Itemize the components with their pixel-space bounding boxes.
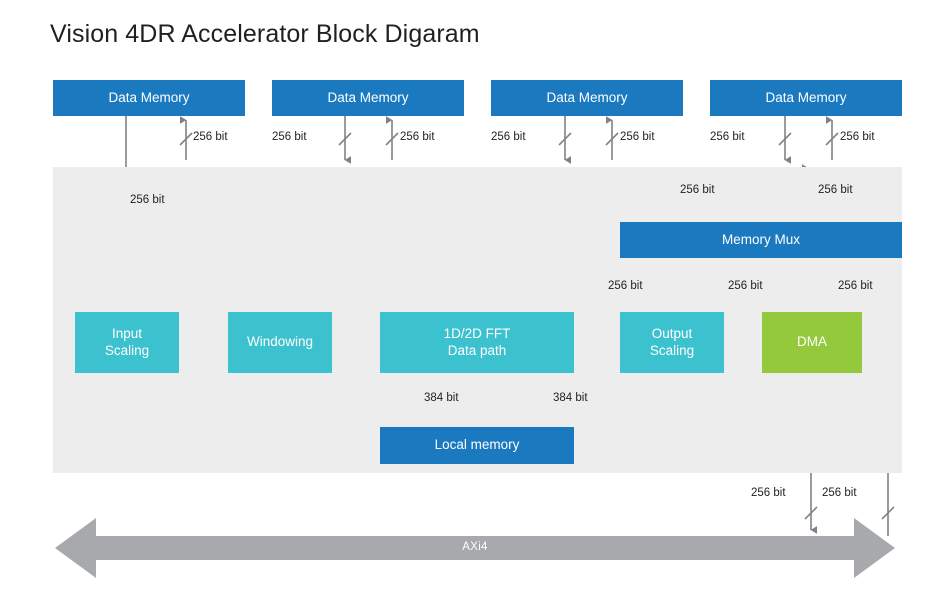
block-label: Data Memory [108, 90, 189, 107]
block-label: Data Memory [546, 90, 627, 107]
bus-label-dm3-up: 256 bit [620, 131, 655, 143]
bus-label-fft-local-in: 384 bit [424, 392, 459, 404]
bus-label-dm3-down: 256 bit [491, 131, 526, 143]
block-label: Output Scaling [650, 326, 694, 360]
block-data-memory-4[interactable]: Data Memory [710, 80, 902, 116]
bus-label-dm2-down: 256 bit [272, 131, 307, 143]
bus-label-dma-down: 256 bit [838, 280, 873, 292]
bus-label-mux-out-up: 256 bit [818, 184, 853, 196]
block-label: Data Memory [765, 90, 846, 107]
axi4-bus-label: AXi4 [0, 541, 950, 553]
block-fft-datapath[interactable]: 1D/2D FFT Data path [380, 312, 574, 373]
bus-label-dm4-up: 256 bit [840, 131, 875, 143]
block-dma[interactable]: DMA [762, 312, 862, 373]
bus-label-dm1-up: 256 bit [193, 131, 228, 143]
bus-label-dm4-down: 256 bit [710, 131, 745, 143]
block-label: Windowing [247, 334, 313, 351]
bus-label-dm2-up: 256 bit [400, 131, 435, 143]
block-input-scaling[interactable]: Input Scaling [75, 312, 179, 373]
block-label: DMA [797, 334, 827, 351]
block-label: Input Scaling [105, 326, 149, 360]
bus-label-mux-in-down: 256 bit [680, 184, 715, 196]
block-output-scaling[interactable]: Output Scaling [620, 312, 724, 373]
block-data-memory-1[interactable]: Data Memory [53, 80, 245, 116]
bus-label-dma-up: 256 bit [728, 280, 763, 292]
block-data-memory-3[interactable]: Data Memory [491, 80, 683, 116]
block-label: Data Memory [327, 90, 408, 107]
block-windowing[interactable]: Windowing [228, 312, 332, 373]
bus-label-fft-local-out: 384 bit [553, 392, 588, 404]
block-data-memory-2[interactable]: Data Memory [272, 80, 464, 116]
bus-label-axi-dma-down: 256 bit [751, 487, 786, 499]
diagram-canvas: Vision 4DR Accelerator Block Digaram [0, 0, 950, 591]
block-label: Local memory [435, 437, 520, 454]
block-label: 1D/2D FFT Data path [444, 326, 511, 360]
bus-label-axi-mux-up: 256 bit [822, 487, 857, 499]
bus-label-output-scaling-up: 256 bit [608, 280, 643, 292]
block-label: Memory Mux [722, 232, 800, 249]
block-local-memory[interactable]: Local memory [380, 427, 574, 464]
block-memory-mux[interactable]: Memory Mux [620, 222, 902, 258]
bus-label-input-scaling-in: 256 bit [130, 194, 165, 206]
